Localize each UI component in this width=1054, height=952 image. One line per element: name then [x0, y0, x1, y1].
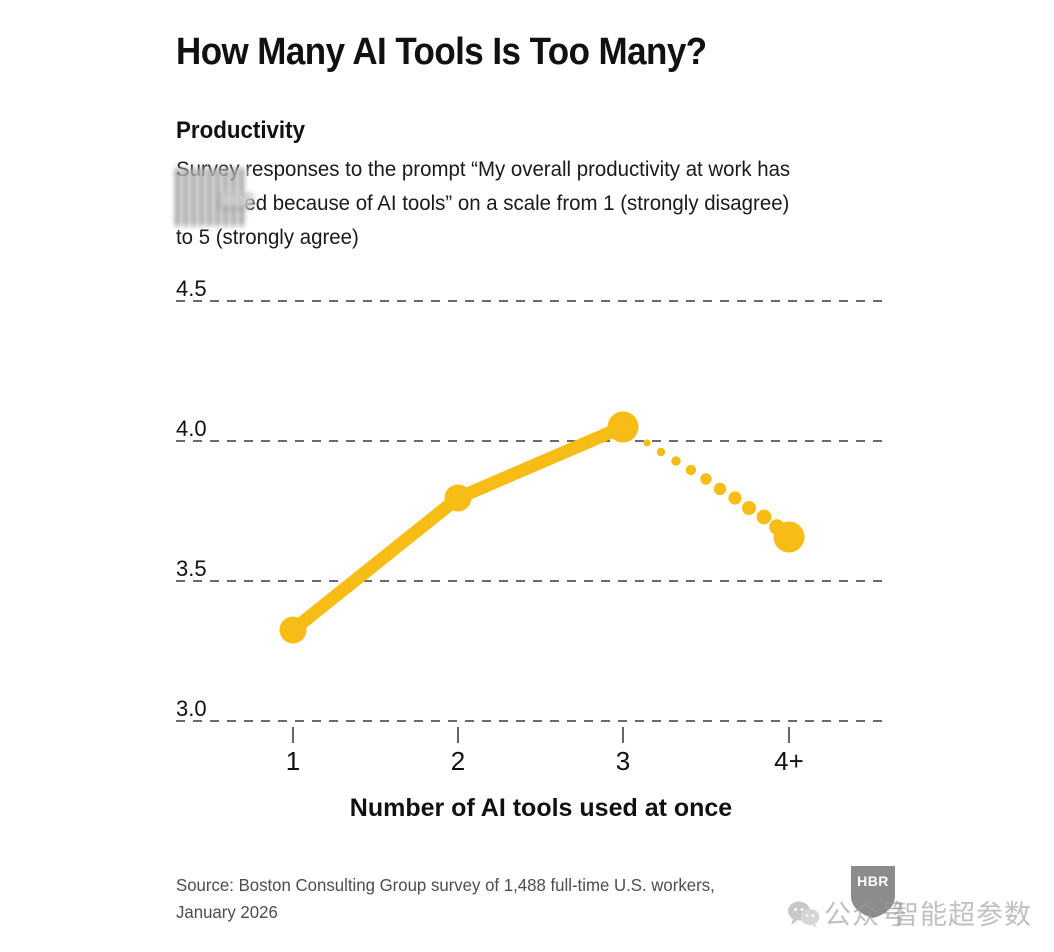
data-point-4plus: [774, 522, 805, 553]
line-chart: 4.5 4.0 3.5 3.0 1 2 3 4+ Number of AI to…: [0, 0, 1054, 952]
x-axis-title: Number of AI tools used at once: [350, 794, 733, 822]
y-tick-label-4-0: 4.0: [176, 416, 207, 441]
source-line-2: January 2026: [176, 899, 829, 926]
data-point-markers: [280, 412, 805, 644]
y-axis-labels: 4.5 4.0 3.5 3.0: [176, 276, 207, 721]
x-axis-ticks: [293, 727, 789, 743]
watermark-account-name: 智能超参数: [892, 893, 1032, 932]
wechat-watermark-right: 智能超参数: [892, 893, 1032, 932]
data-point-2: [445, 485, 472, 512]
x-tick-label-2: 2: [451, 746, 465, 776]
x-axis-labels: 1 2 3 4+: [286, 746, 804, 776]
infographic-page: How Many AI Tools Is Too Many? Productiv…: [0, 0, 1054, 952]
x-tick-label-3: 3: [616, 746, 630, 776]
data-point-1: [280, 617, 307, 644]
y-tick-label-3-0: 3.0: [176, 696, 207, 721]
wechat-watermark-left: 公众号: [787, 893, 908, 932]
data-point-3: [608, 412, 639, 443]
y-tick-label-3-5: 3.5: [176, 556, 207, 581]
chart-gridlines: [176, 301, 890, 721]
data-line-solid: [293, 427, 623, 630]
y-tick-label-4-5: 4.5: [176, 276, 207, 301]
source-note: Source: Boston Consulting Group survey o…: [176, 872, 829, 926]
x-tick-label-4plus: 4+: [774, 746, 804, 776]
hbr-logo-text: HBR: [857, 873, 889, 889]
wechat-icon: [787, 900, 817, 926]
source-line-1: Source: Boston Consulting Group survey o…: [176, 872, 829, 899]
data-line-dotted: [643, 439, 784, 534]
x-tick-label-1: 1: [286, 746, 300, 776]
